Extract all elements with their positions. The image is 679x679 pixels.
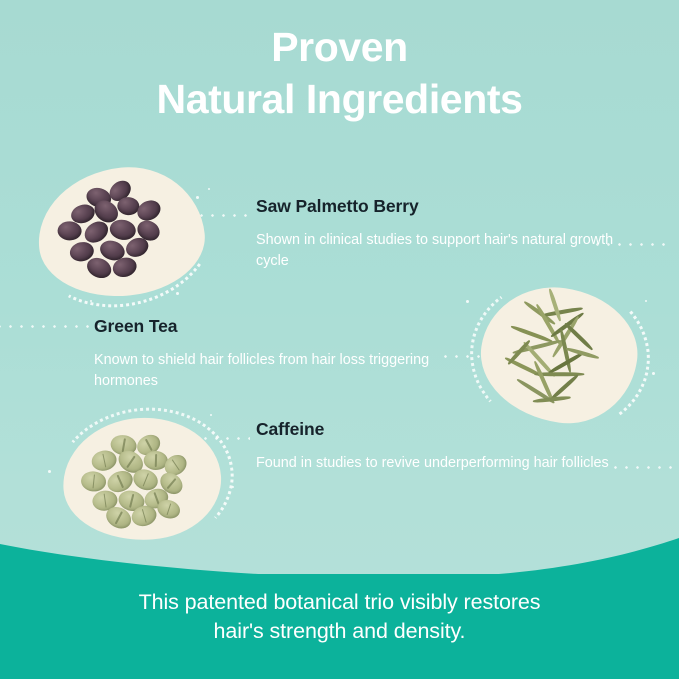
speckle-dot	[210, 414, 212, 416]
saw-palmetto-berries-photo	[32, 160, 210, 305]
ingredient-saw-palmetto-berry: Saw Palmetto Berry Shown in clinical stu…	[256, 196, 616, 273]
dotted-connector-caffeine-right	[610, 466, 679, 469]
speckle-dot	[90, 300, 92, 302]
speckle-dot	[48, 470, 51, 473]
ingredient-description: Found in studies to revive underperformi…	[256, 453, 609, 474]
bottom-banner: This patented botanical trio visibly res…	[0, 534, 679, 679]
ingredient-name: Caffeine	[256, 419, 609, 440]
speckle-dot	[208, 188, 210, 190]
ingredient-description: Known to shield hair follicles from hair…	[94, 350, 454, 393]
speckle-dot	[176, 292, 179, 295]
green-coffee-beans-cluster	[59, 413, 225, 546]
page-title-line-1: Proven	[28, 22, 651, 74]
speckle-dot	[645, 300, 647, 302]
tea-leaf	[548, 288, 562, 322]
banner-text: This patented botanical trio visibly res…	[0, 588, 679, 645]
green-tea-leaves-cluster	[472, 278, 645, 432]
speckle-dot	[232, 486, 234, 488]
banner-line-1: This patented botanical trio visibly res…	[45, 588, 634, 617]
ingredient-name: Saw Palmetto Berry	[256, 196, 616, 217]
dotted-connector-green-tea-left	[0, 325, 104, 328]
green-tea-leaves-photo	[472, 278, 645, 432]
speckle-dot	[196, 196, 199, 199]
page-title: Proven Natural Ingredients	[0, 22, 679, 125]
banner-line-2: hair's strength and density.	[45, 617, 634, 646]
berry	[57, 221, 82, 241]
ingredient-description: Shown in clinical studies to support hai…	[256, 230, 616, 273]
green-coffee-beans-photo	[59, 413, 225, 546]
speckle-dot	[652, 372, 655, 375]
ingredient-green-tea: Green Tea Known to shield hair follicles…	[94, 316, 454, 393]
tea-leaf	[510, 325, 553, 344]
ingredient-caffeine: Caffeine Found in studies to revive unde…	[256, 419, 609, 474]
speckle-dot	[466, 300, 469, 303]
page-title-line-2: Natural Ingredients	[28, 74, 651, 126]
ingredients-infographic: Proven Natural Ingredients	[0, 0, 679, 679]
coffee-bean	[80, 470, 107, 493]
ingredient-name: Green Tea	[94, 316, 454, 337]
saw-palmetto-berries-cluster	[32, 160, 210, 305]
